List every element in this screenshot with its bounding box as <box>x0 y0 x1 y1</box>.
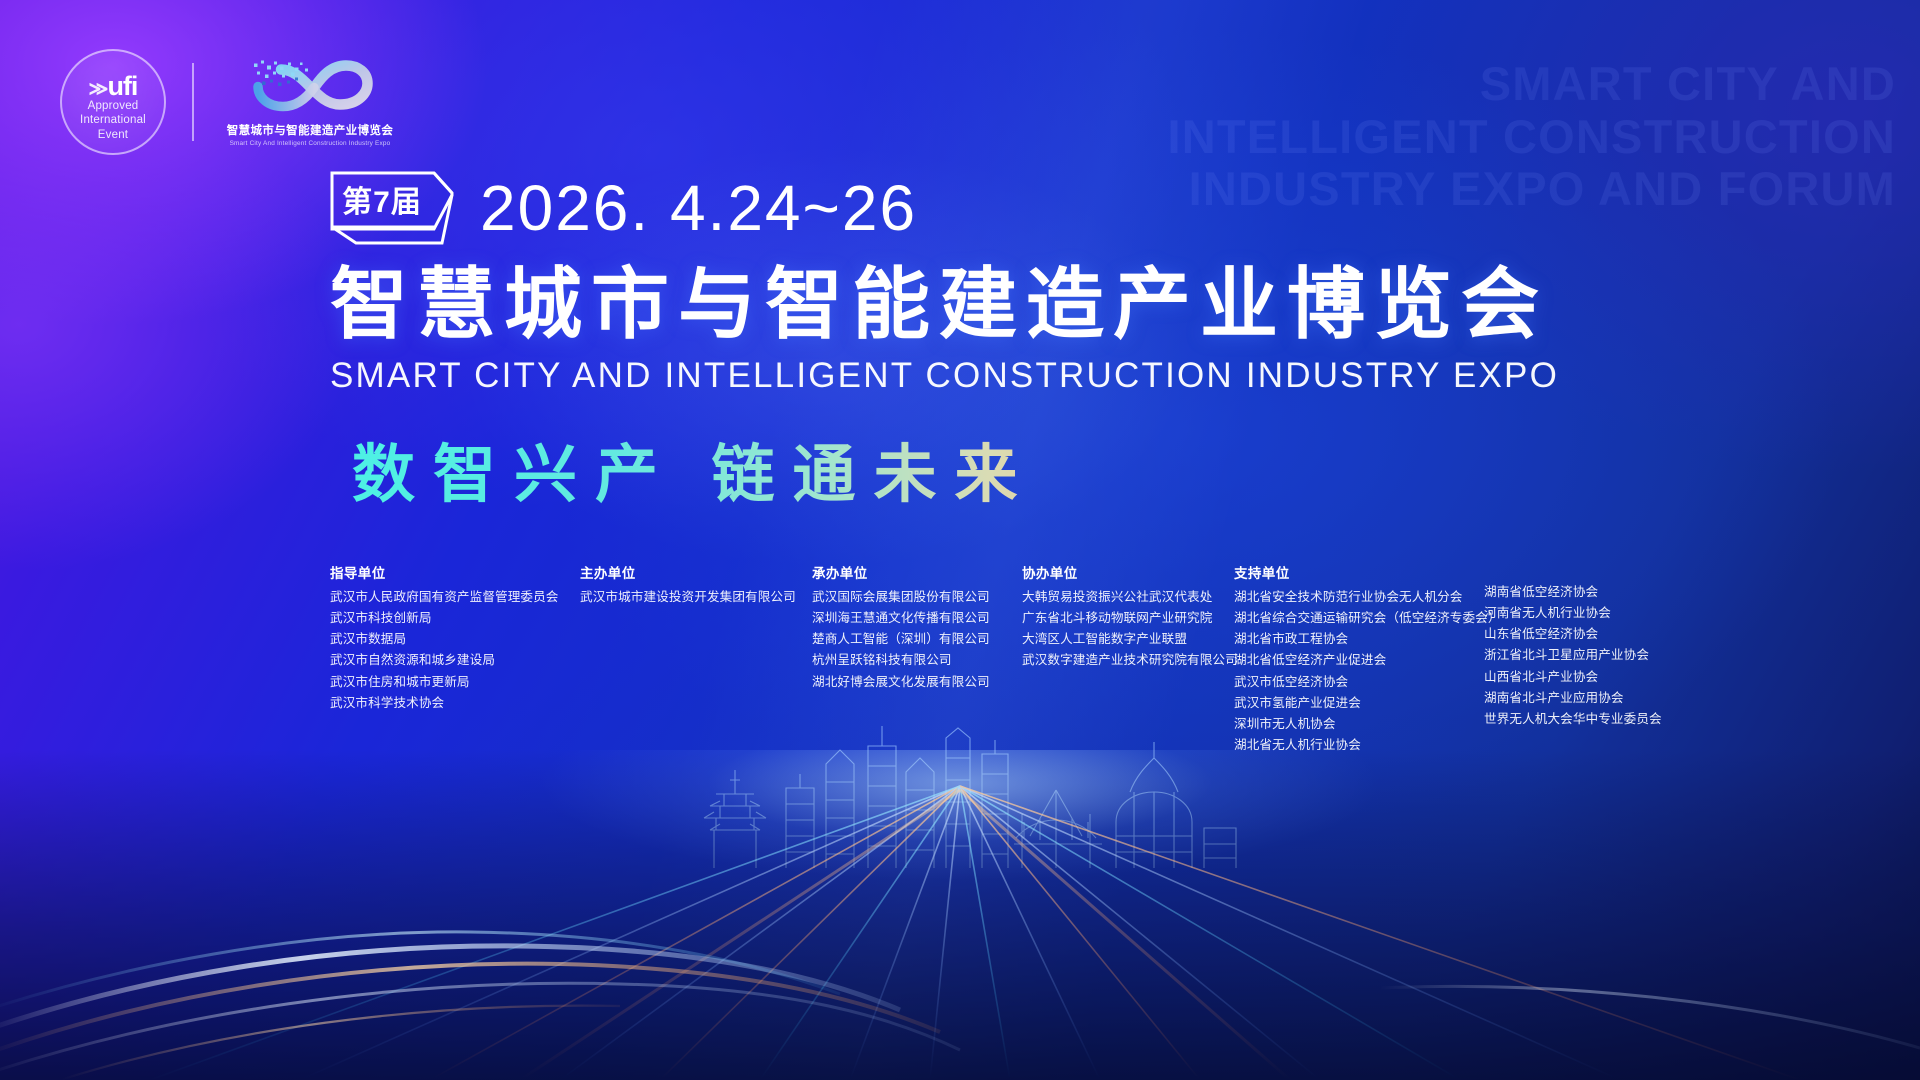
event-date: 2026. 4.24~26 <box>480 176 917 240</box>
sponsor-column: 支持单位湖北省安全技术防范行业协会无人机分会湖北省综合交通运输研究会（低空经济专… <box>1234 562 1484 756</box>
ufi-wordmark: ≫ufi <box>60 71 166 102</box>
ufi-wordmark-text: ufi <box>107 71 137 101</box>
edition-badge: 第7届 <box>330 171 454 245</box>
sponsor-item: 浙江省北斗卫星应用产业协会 <box>1484 645 1684 666</box>
sponsor-item: 广东省北斗移动物联网产业研究院 <box>1022 608 1234 629</box>
sponsor-item: 湖南省低空经济协会 <box>1484 582 1684 603</box>
sponsor-column-heading: 协办单位 <box>1022 562 1234 582</box>
sponsor-item: 武汉市低空经济协会 <box>1234 672 1484 693</box>
sponsor-column: 主办单位武汉市城市建设投资开发集团有限公司 <box>580 562 812 756</box>
logo-divider <box>192 63 194 141</box>
logo-bar: ≫ufi Approved International Event <box>60 48 400 156</box>
sponsor-item: 深圳海王慧通文化传播有限公司 <box>812 608 1022 629</box>
title-chinese: 智慧城市与智能建造产业博览会 <box>330 262 1650 346</box>
sponsor-item: 山西省北斗产业协会 <box>1484 667 1684 688</box>
ufi-line-3: Event <box>60 128 166 142</box>
watermark-line-1: SMART CITY AND <box>1167 58 1896 111</box>
sponsor-item: 楚商人工智能（深圳）有限公司 <box>812 629 1022 650</box>
sponsor-column-heading: 承办单位 <box>812 562 1022 582</box>
sponsor-column: 湖南省低空经济协会河南省无人机行业协会山东省低空经济协会浙江省北斗卫星应用产业协… <box>1484 562 1684 756</box>
sponsor-item: 武汉市科学技术协会 <box>330 693 580 714</box>
sponsor-item: 湖北省综合交通运输研究会（低空经济专委会） <box>1234 608 1484 629</box>
expo-logo: 智慧城市与智能建造产业博览会 Smart City And Intelligen… <box>220 58 400 147</box>
sponsor-item: 武汉市科技创新局 <box>330 608 580 629</box>
sponsor-item: 武汉市自然资源和城乡建设局 <box>330 650 580 671</box>
title-english: SMART CITY AND INTELLIGENT CONSTRUCTION … <box>330 356 1650 396</box>
sponsor-item: 武汉市数据局 <box>330 629 580 650</box>
sponsor-column: 协办单位大韩贸易投资振兴公社武汉代表处广东省北斗移动物联网产业研究院大湾区人工智… <box>1022 562 1234 756</box>
sponsor-item: 武汉国际会展集团股份有限公司 <box>812 587 1022 608</box>
sponsor-column: 承办单位武汉国际会展集团股份有限公司深圳海王慧通文化传播有限公司楚商人工智能（深… <box>812 562 1022 756</box>
sponsor-item: 杭州呈跃铭科技有限公司 <box>812 650 1022 671</box>
swoosh-icon: ≫ <box>89 79 108 100</box>
sponsor-item: 湖南省北斗产业应用协会 <box>1484 688 1684 709</box>
sponsor-item: 武汉市住房和城市更新局 <box>330 672 580 693</box>
sponsor-item: 湖北省无人机行业协会 <box>1234 735 1484 756</box>
sponsor-item: 武汉数字建造产业技术研究院有限公司 <box>1022 650 1234 671</box>
sponsor-item: 大韩贸易投资振兴公社武汉代表处 <box>1022 587 1234 608</box>
sponsor-column-heading: 支持单位 <box>1234 562 1484 582</box>
ufi-subtext: Approved International Event <box>60 99 166 142</box>
sponsor-item: 世界无人机大会华中专业委员会 <box>1484 709 1684 730</box>
sponsor-item: 武汉市人民政府国有资产监督管理委员会 <box>330 587 580 608</box>
event-banner: SMART CITY AND INTELLIGENT CONSTRUCTION … <box>0 0 1920 1080</box>
sponsor-item: 湖北省安全技术防范行业协会无人机分会 <box>1234 587 1484 608</box>
ufi-logo: ≫ufi Approved International Event <box>60 49 166 155</box>
sponsor-item: 湖北省市政工程协会 <box>1234 629 1484 650</box>
expo-logo-en: Smart City And Intelligent Construction … <box>220 140 400 147</box>
sponsor-column-heading: 主办单位 <box>580 562 812 582</box>
sponsor-item: 河南省无人机行业协会 <box>1484 603 1684 624</box>
sponsor-item: 山东省低空经济协会 <box>1484 624 1684 645</box>
sponsor-column-heading: 指导单位 <box>330 562 580 582</box>
edition-badge-label: 第7届 <box>330 174 434 224</box>
sponsor-item: 深圳市无人机协会 <box>1234 714 1484 735</box>
sponsor-column: 指导单位武汉市人民政府国有资产监督管理委员会武汉市科技创新局武汉市数据局武汉市自… <box>330 562 580 756</box>
edition-date-row: 第7届 2026. 4.24~26 <box>330 168 1650 248</box>
sponsor-columns: 指导单位武汉市人民政府国有资产监督管理委员会武汉市科技创新局武汉市数据局武汉市自… <box>330 562 1900 756</box>
expo-logo-cn: 智慧城市与智能建造产业博览会 <box>220 122 400 138</box>
sponsor-item: 武汉市城市建设投资开发集团有限公司 <box>580 587 812 608</box>
ufi-line-1: Approved <box>60 99 166 113</box>
infinity-mark-icon <box>245 58 375 116</box>
watermark-line-2: INTELLIGENT CONSTRUCTION <box>1167 111 1896 164</box>
sponsor-item: 武汉市氢能产业促进会 <box>1234 693 1484 714</box>
tagline: 数智兴产 链通未来 <box>352 424 1650 515</box>
ufi-line-2: International <box>60 113 166 127</box>
headline-block: 第7届 2026. 4.24~26 智慧城市与智能建造产业博览会 SMART C… <box>330 168 1650 515</box>
sponsor-item: 大湾区人工智能数字产业联盟 <box>1022 629 1234 650</box>
sponsor-item: 湖北好博会展文化发展有限公司 <box>812 672 1022 693</box>
sponsor-item: 湖北省低空经济产业促进会 <box>1234 650 1484 671</box>
sponsor-column-heading-spacer <box>1484 562 1684 577</box>
